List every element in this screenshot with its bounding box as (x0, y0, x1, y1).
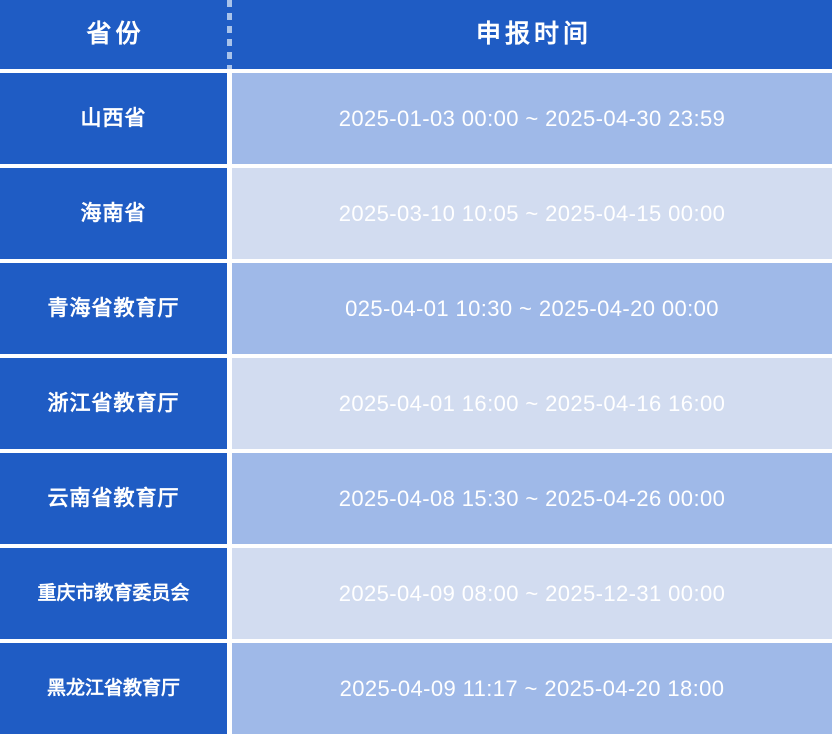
column-header-time: 申报时间 (232, 0, 832, 69)
table-row: 山西省 2025-01-03 00:00 ~ 2025-04-30 23:59 (0, 69, 832, 164)
cell-province: 海南省 (0, 168, 227, 259)
cell-province: 山西省 (0, 73, 227, 164)
column-header-province-label: 省份 (82, 22, 144, 47)
cell-declaration-time: 2025-04-01 16:00 ~ 2025-04-16 16:00 (232, 358, 832, 449)
cell-province: 云南省教育厅 (0, 453, 227, 544)
declaration-time-range: 2025-04-09 11:17 ~ 2025-04-20 18:00 (340, 678, 725, 700)
declaration-time-range: 2025-04-09 08:00 ~ 2025-12-31 00:00 (339, 583, 725, 605)
declaration-time-range: 2025-04-08 15:30 ~ 2025-04-26 00:00 (339, 488, 725, 510)
table-body: 山西省 2025-01-03 00:00 ~ 2025-04-30 23:59 … (0, 69, 832, 734)
cell-province: 重庆市教育委员会 (0, 548, 227, 639)
table-row: 海南省 2025-03-10 10:05 ~ 2025-04-15 00:00 (0, 164, 832, 259)
column-header-province: 省份 (0, 0, 227, 69)
cell-province: 黑龙江省教育厅 (0, 643, 227, 734)
province-name: 黑龙江省教育厅 (47, 679, 180, 698)
cell-province: 青海省教育厅 (0, 263, 227, 354)
province-name: 云南省教育厅 (48, 488, 180, 509)
table-header-row: 省份 申报时间 (0, 0, 832, 69)
cell-declaration-time: 2025-04-09 08:00 ~ 2025-12-31 00:00 (232, 548, 832, 639)
table-row: 青海省教育厅 025-04-01 10:30 ~ 2025-04-20 00:0… (0, 259, 832, 354)
province-name: 海南省 (81, 203, 147, 224)
declaration-time-range: 2025-04-01 16:00 ~ 2025-04-16 16:00 (339, 393, 725, 415)
cell-province: 浙江省教育厅 (0, 358, 227, 449)
cell-declaration-time: 025-04-01 10:30 ~ 2025-04-20 00:00 (232, 263, 832, 354)
cell-declaration-time: 2025-04-08 15:30 ~ 2025-04-26 00:00 (232, 453, 832, 544)
table-row: 云南省教育厅 2025-04-08 15:30 ~ 2025-04-26 00:… (0, 449, 832, 544)
declaration-schedule-table: 省份 申报时间 山西省 2025-01-03 00:00 ~ 2025-04-3… (0, 0, 832, 734)
province-name: 重庆市教育委员会 (37, 584, 189, 603)
cell-declaration-time: 2025-03-10 10:05 ~ 2025-04-15 00:00 (232, 168, 832, 259)
cell-declaration-time: 2025-04-09 11:17 ~ 2025-04-20 18:00 (232, 643, 832, 734)
column-header-time-label: 申报时间 (472, 22, 592, 47)
cell-declaration-time: 2025-01-03 00:00 ~ 2025-04-30 23:59 (232, 73, 832, 164)
declaration-time-range: 2025-01-03 00:00 ~ 2025-04-30 23:59 (339, 108, 725, 130)
declaration-time-range: 025-04-01 10:30 ~ 2025-04-20 00:00 (345, 298, 719, 320)
province-name: 山西省 (81, 108, 147, 129)
declaration-time-range: 2025-03-10 10:05 ~ 2025-04-15 00:00 (339, 203, 725, 225)
table-row: 重庆市教育委员会 2025-04-09 08:00 ~ 2025-12-31 0… (0, 544, 832, 639)
table-row: 浙江省教育厅 2025-04-01 16:00 ~ 2025-04-16 16:… (0, 354, 832, 449)
province-name: 浙江省教育厅 (48, 393, 180, 414)
table-row: 黑龙江省教育厅 2025-04-09 11:17 ~ 2025-04-20 18… (0, 639, 832, 734)
province-name: 青海省教育厅 (48, 298, 180, 319)
